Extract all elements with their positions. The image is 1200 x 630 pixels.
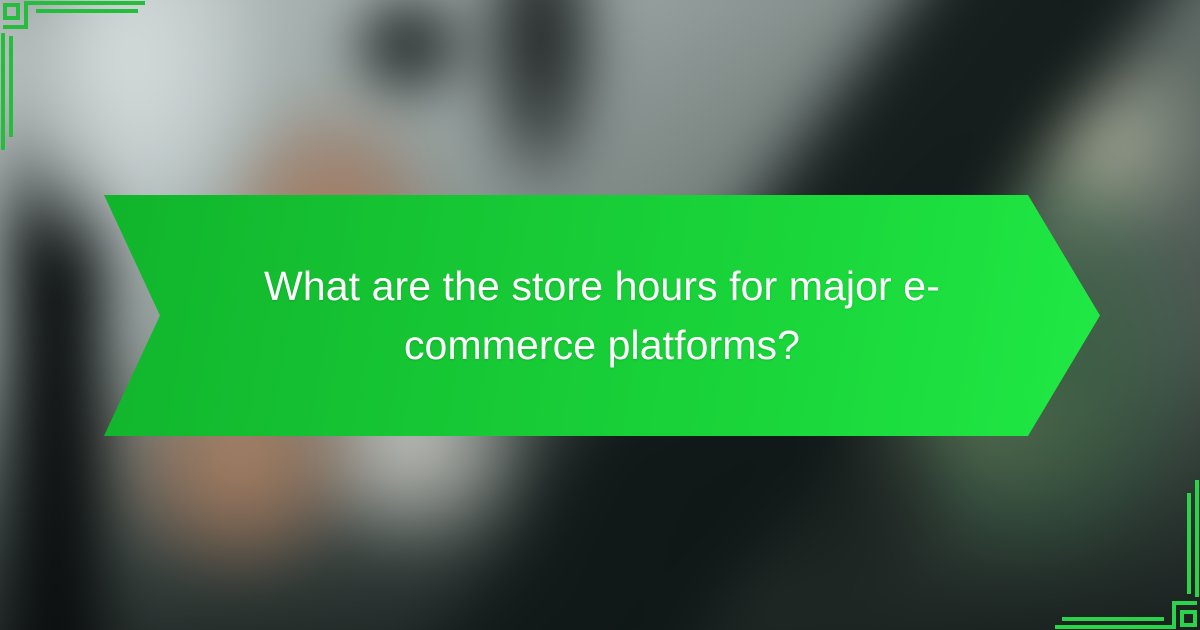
question-text: What are the store hours for major e-com… [234,195,970,436]
page-canvas: What are the store hours for major e-com… [0,0,1200,630]
circuit-corner-icon-top-left [0,0,180,160]
circuit-corner-icon-bottom-right [1020,470,1200,630]
question-banner: What are the store hours for major e-com… [104,195,1100,436]
